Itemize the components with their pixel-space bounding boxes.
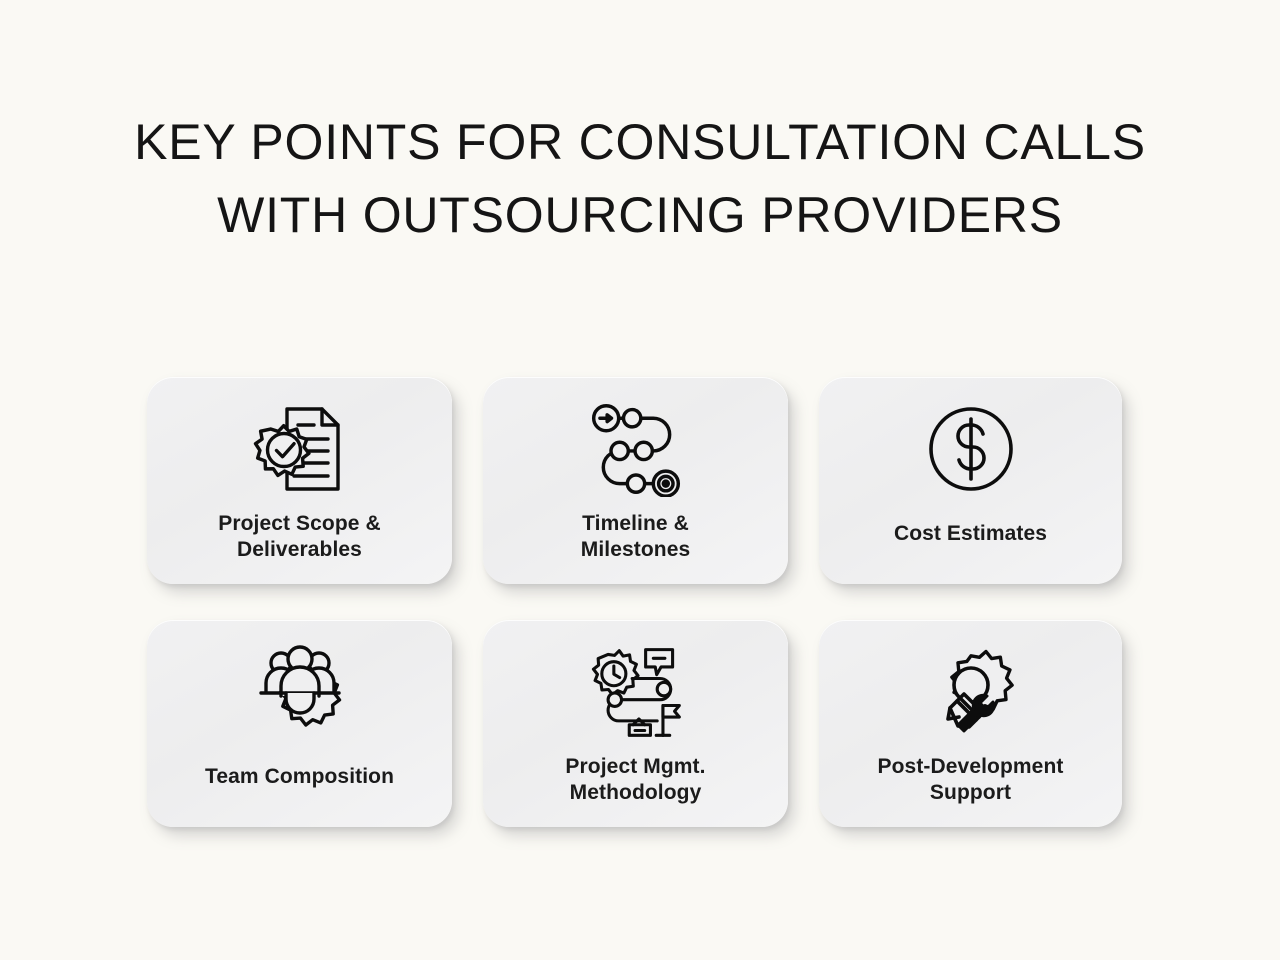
card-label: Project Mgmt. Methodology (483, 754, 788, 806)
card-label: Cost Estimates (819, 521, 1122, 547)
card-label: Project Scope & Deliverables (147, 511, 452, 563)
people-gear-icon (250, 640, 350, 744)
card-project-mgmt-methodology[interactable]: Project Mgmt. Methodology (483, 620, 788, 827)
gear-clock-path-flag-icon (584, 640, 688, 744)
roadmap-milestones-icon (586, 397, 686, 501)
card-label: Team Composition (147, 764, 452, 790)
card-grid: Project Scope & Deliverables (147, 377, 1121, 827)
infographic-page: KEY POINTS FOR CONSULTATION CALLS WITH O… (0, 0, 1280, 960)
card-project-scope[interactable]: Project Scope & Deliverables (147, 377, 452, 584)
card-post-development-support[interactable]: Post-Development Support (819, 620, 1122, 827)
card-label: Timeline & Milestones (483, 511, 788, 563)
document-gear-check-icon (250, 397, 350, 501)
page-title: KEY POINTS FOR CONSULTATION CALLS WITH O… (0, 106, 1280, 252)
card-team-composition[interactable]: Team Composition (147, 620, 452, 827)
title-line-2: WITH OUTSOURCING PROVIDERS (0, 179, 1280, 252)
gear-wrench-pencil-icon (923, 640, 1019, 744)
title-line-1: KEY POINTS FOR CONSULTATION CALLS (0, 106, 1280, 179)
card-timeline-milestones[interactable]: Timeline & Milestones (483, 377, 788, 584)
card-cost-estimates[interactable]: Cost Estimates (819, 377, 1122, 584)
dollar-circle-icon (925, 397, 1017, 501)
card-label: Post-Development Support (819, 754, 1122, 806)
